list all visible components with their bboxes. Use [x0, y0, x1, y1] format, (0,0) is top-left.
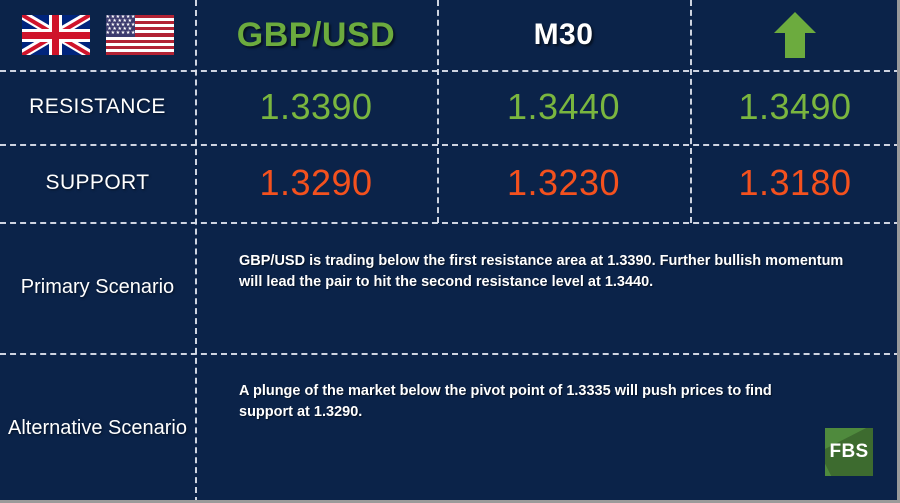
currency-pair-title: GBP/USD	[237, 16, 395, 55]
arrow-up-icon	[773, 10, 817, 60]
currency-flags: ★★★★★★★★★★★★★★★★★★★★★★★★★★★★	[22, 15, 174, 55]
us-flag-icon: ★★★★★★★★★★★★★★★★★★★★★★★★★★★★	[106, 15, 174, 55]
currency-pair-cell: GBP/USD	[195, 0, 437, 70]
support-value-1: 1.3290	[259, 162, 372, 204]
support-value-3-cell: 1.3180	[690, 144, 900, 222]
forex-signal-card: ★★★★★★★★★★★★★★★★★★★★★★★★★★★★ GBP/USD M30…	[0, 0, 900, 503]
support-value-1-cell: 1.3290	[195, 144, 437, 222]
support-label-cell: SUPPORT	[0, 144, 195, 222]
flags-cell: ★★★★★★★★★★★★★★★★★★★★★★★★★★★★	[0, 0, 195, 70]
resistance-value-1: 1.3390	[259, 86, 372, 128]
trend-direction-cell	[690, 0, 900, 70]
fbs-logo: FBS	[825, 428, 873, 476]
us-flag-stars: ★★★★★★★★★★★★★★★★★★★★★★★★★★★★	[106, 15, 135, 37]
alternative-scenario-label: Alternative Scenario	[8, 415, 187, 442]
alternative-scenario-label-cell: Alternative Scenario	[0, 353, 195, 503]
resistance-value-2-cell: 1.3440	[437, 70, 690, 144]
alternative-scenario-text: A plunge of the market below the pivot p…	[239, 381, 819, 423]
support-value-2: 1.3230	[507, 162, 620, 204]
resistance-value-2: 1.3440	[507, 86, 620, 128]
resistance-value-3-cell: 1.3490	[690, 70, 900, 144]
resistance-value-1-cell: 1.3390	[195, 70, 437, 144]
fbs-logo-text: FBS	[825, 428, 873, 476]
resistance-value-3: 1.3490	[738, 86, 851, 128]
support-value-2-cell: 1.3230	[437, 144, 690, 222]
primary-scenario-label-cell: Primary Scenario	[0, 222, 195, 353]
timeframe-label: M30	[534, 18, 594, 52]
uk-flag-icon	[22, 15, 90, 55]
support-value-3: 1.3180	[738, 162, 851, 204]
primary-scenario-text: GBP/USD is trading below the first resis…	[239, 251, 854, 293]
support-label: SUPPORT	[46, 171, 150, 195]
resistance-label: RESISTANCE	[29, 95, 166, 119]
primary-scenario-label: Primary Scenario	[21, 274, 174, 301]
resistance-label-cell: RESISTANCE	[0, 70, 195, 144]
timeframe-cell: M30	[437, 0, 690, 70]
